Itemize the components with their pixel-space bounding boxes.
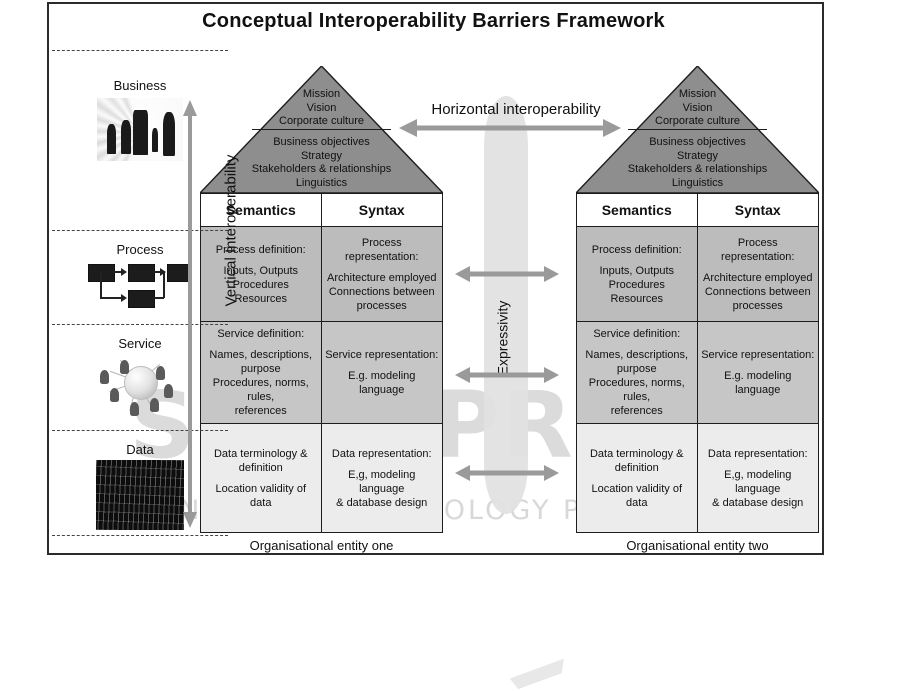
layer-divider-service-data bbox=[52, 430, 228, 431]
cell-process-syntax-left: Process representation: Architecture emp… bbox=[322, 227, 443, 321]
process-row-right: Process definition: Inputs, Outputs Proc… bbox=[577, 227, 818, 322]
cell-service-semantics-right: Service definition: Names, descriptions,… bbox=[577, 322, 698, 423]
layer-art-data bbox=[52, 460, 228, 535]
cell-title: Service definition: bbox=[580, 327, 694, 341]
cell-service-syntax-right: Service representation: E.g. modeling la… bbox=[698, 322, 819, 423]
roof-bottom-text-right: Business objectives Strategy Stakeholder… bbox=[576, 136, 819, 190]
cell-body: Architecture employed Connections betwee… bbox=[325, 271, 440, 313]
data-row-left: Data terminology & definition Location v… bbox=[201, 424, 442, 532]
service-row-left: Service definition: Names, descriptions,… bbox=[201, 322, 442, 424]
matrix-right: Semantics Syntax Process definition: Inp… bbox=[576, 193, 819, 533]
column-header-semantics-left: Semantics bbox=[201, 194, 322, 226]
diagram-canvas: SCITEPRESS SCIENCE AND TECHNOLOGY PUBLIC… bbox=[0, 0, 901, 691]
layer-strip: Business Process bbox=[50, 2, 180, 551]
expressivity-arrow-process bbox=[455, 265, 559, 283]
expressivity-arrow-service bbox=[455, 366, 559, 384]
roof-divider-left bbox=[252, 129, 391, 130]
cell-body: E.g. modeling language bbox=[701, 369, 816, 397]
page-title: Conceptual Interoperability Barriers Fra… bbox=[47, 10, 820, 33]
cell-body: Location validity of data bbox=[580, 482, 694, 510]
layer-divider-business-process bbox=[52, 230, 228, 231]
entity-label-left: Organisational entity one bbox=[200, 538, 443, 553]
layer-art-service bbox=[52, 354, 228, 427]
column-header-syntax-right: Syntax bbox=[698, 194, 819, 226]
layer-label-process: Process bbox=[52, 242, 228, 257]
cell-data-semantics-right: Data terminology & definition Location v… bbox=[577, 424, 698, 532]
cell-title: Process representation: bbox=[701, 236, 816, 264]
cell-process-semantics-right: Process definition: Inputs, Outputs Proc… bbox=[577, 227, 698, 321]
cell-title: Data representation: bbox=[325, 447, 440, 461]
layer-art-process bbox=[52, 262, 228, 315]
cell-data-syntax-right: Data representation: E,g, modeling langu… bbox=[698, 424, 819, 532]
cell-body: E,g, modeling language & database design bbox=[325, 468, 440, 510]
cell-title: Process representation: bbox=[325, 236, 440, 264]
cell-title: Process definition: bbox=[580, 243, 694, 257]
cell-title: Data terminology & definition bbox=[580, 447, 694, 475]
cell-title: Data representation: bbox=[701, 447, 816, 461]
cell-body: Architecture employed Connections betwee… bbox=[701, 271, 816, 313]
expressivity-label: Expressivity bbox=[494, 301, 510, 376]
layer-label-business: Business bbox=[52, 78, 228, 93]
header-row-right: Semantics Syntax bbox=[577, 194, 818, 227]
layer-divider-bottom bbox=[52, 535, 228, 536]
cell-title: Service representation: bbox=[701, 348, 816, 362]
column-header-syntax-left: Syntax bbox=[322, 194, 443, 226]
process-flowchart-icon bbox=[88, 262, 192, 310]
entity-label-right: Organisational entity two bbox=[576, 538, 819, 553]
cell-body: E,g, modeling language & database design bbox=[701, 468, 816, 510]
cell-title: Service representation: bbox=[325, 348, 440, 362]
expressivity-arrow-data bbox=[455, 464, 559, 482]
roof-divider-right bbox=[628, 129, 767, 130]
service-row-right: Service definition: Names, descriptions,… bbox=[577, 322, 818, 424]
roof-top-text-left: Mission Vision Corporate culture bbox=[200, 88, 443, 129]
layer-divider-process-service bbox=[52, 324, 228, 325]
cell-process-syntax-right: Process representation: Architecture emp… bbox=[698, 227, 819, 321]
cell-body: Names, descriptions, purpose Procedures,… bbox=[580, 348, 694, 418]
vertical-interoperability-arrow bbox=[182, 100, 198, 528]
cell-body: Inputs, Outputs Procedures Resources bbox=[580, 264, 694, 306]
business-people-icon bbox=[97, 98, 183, 161]
layer-label-service: Service bbox=[52, 336, 228, 351]
cell-data-syntax-left: Data representation: E,g, modeling langu… bbox=[322, 424, 443, 532]
data-server-rack-icon bbox=[96, 460, 184, 530]
layer-divider-top bbox=[52, 50, 228, 51]
cell-body: E.g. modeling language bbox=[325, 369, 440, 397]
service-network-globe-icon bbox=[92, 354, 188, 422]
roof-top-text-right: Mission Vision Corporate culture bbox=[576, 88, 819, 129]
layer-art-business bbox=[52, 98, 228, 166]
column-header-semantics-right: Semantics bbox=[577, 194, 698, 226]
layer-label-data: Data bbox=[52, 442, 228, 457]
vertical-interoperability-label: Vertical Interoperability bbox=[222, 155, 239, 307]
data-row-right: Data terminology & definition Location v… bbox=[577, 424, 818, 532]
cell-service-syntax-left: Service representation: E.g. modeling la… bbox=[322, 322, 443, 423]
